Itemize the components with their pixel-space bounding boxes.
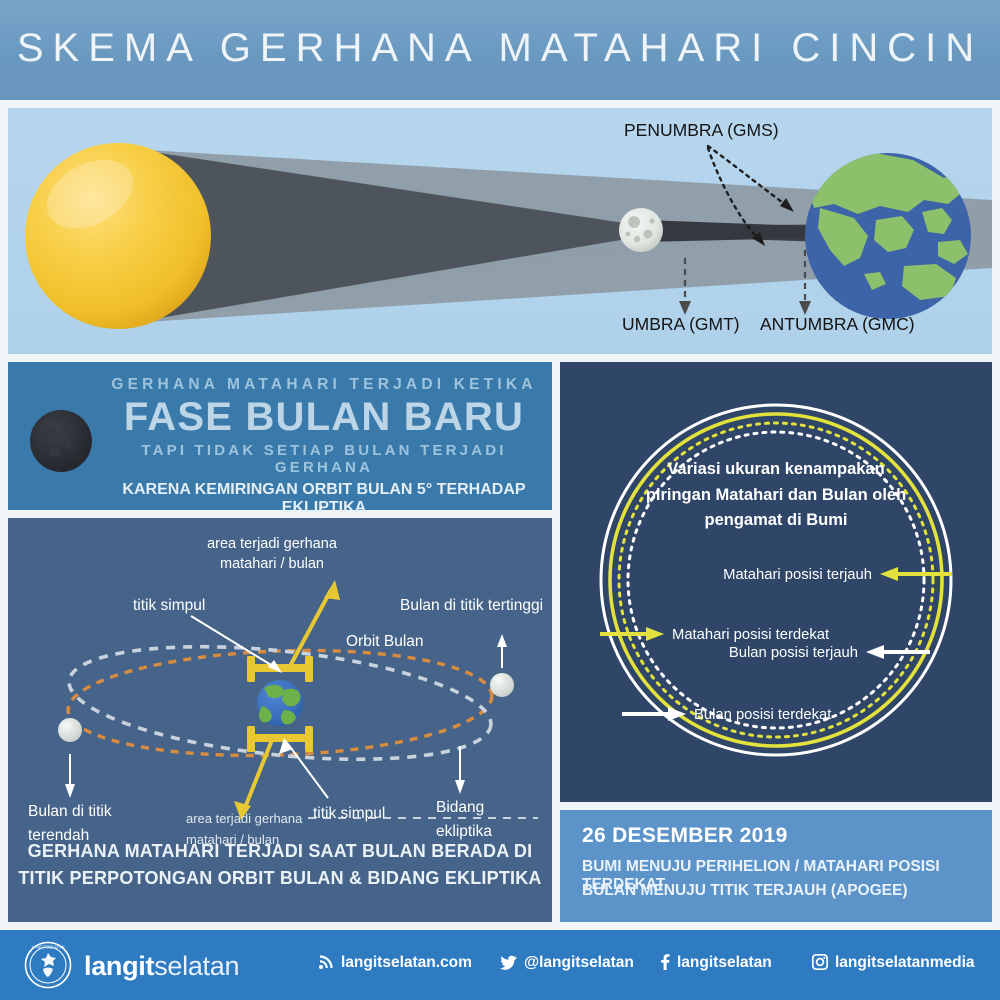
social-facebook[interactable]: langitselatan: [660, 954, 772, 975]
brand-wordmark: langitselatan: [84, 951, 239, 982]
moon-object: [619, 208, 663, 252]
moon-highest-label: Bulan di titik tertinggi: [400, 597, 543, 614]
event-date: 26 DESEMBER 2019: [582, 824, 788, 848]
rings-title: Variasi ukuran kenampakan piringan Matah…: [620, 457, 932, 534]
label-sun-nearest: Matahari posisi terdekat: [672, 627, 829, 643]
label-sun-farthest: Matahari posisi terjauh: [723, 567, 872, 583]
fase-line-4: KARENA KEMIRINGAN ORBIT BULAN 5° TERHADA…: [104, 481, 544, 517]
moon-orbit-label: Orbit Bulan: [346, 633, 424, 650]
umbra-label: UMBRA (GMT): [622, 314, 740, 334]
event-date-panel: 26 DESEMBER 2019 BUMI MENUJU PERIHELION …: [560, 810, 992, 922]
moon-orbit-nodes-panel: area terjadi gerhana matahari / bulan ti…: [8, 518, 552, 922]
fase-line-2: FASE BULAN BARU: [104, 396, 544, 438]
moon-lowest-label-1: Bulan di titik: [28, 803, 112, 820]
orbit-caption-line-2: TITIK PERPOTONGAN ORBIT BULAN & BIDANG E…: [8, 865, 552, 892]
fase-line-1: GERHANA MATAHARI TERJADI KETIKA: [104, 376, 544, 394]
brand-light: selatan: [154, 951, 239, 981]
node-bottom-label: titik simpul: [313, 805, 385, 822]
page-title: SKEMA GERHANA MATAHARI CINCIN: [0, 26, 1000, 71]
brand-bold: langit: [84, 951, 154, 981]
eclipse-area-top-label-1: area terjadi gerhana: [207, 536, 338, 552]
event-note-2: BULAN MENUJU TITIK TERJAUH (APOGEE): [582, 882, 908, 900]
antumbra-label: ANTUMBRA (GMC): [760, 314, 915, 334]
new-moon-phase-panel: GERHANA MATAHARI TERJADI KETIKA FASE BUL…: [8, 362, 552, 510]
sun-object: [25, 143, 211, 329]
moon-highest-icon: [490, 673, 514, 697]
penumbra-label: PENUMBRA (GMS): [624, 120, 779, 140]
orbit-caption-line-1: GERHANA MATAHARI TERJADI SAAT BULAN BERA…: [8, 838, 552, 865]
langitselatan-seal-logo: LANGITSELATAN: [24, 941, 72, 989]
social-twitter-label: @langitselatan: [524, 954, 634, 971]
rings-title-line-2: piringan Matahari dan Bulan oleh: [620, 483, 932, 509]
apparent-size-panel: Matahari posisi terjauh Matahari posisi …: [560, 362, 992, 802]
social-facebook-label: langitselatan: [677, 954, 772, 971]
orbit-caption: GERHANA MATAHARI TERJADI SAAT BULAN BERA…: [8, 838, 552, 892]
eclipse-area-bottom-label-1: area terjadi gerhana: [186, 811, 303, 826]
node-top-label: titik simpul: [133, 597, 205, 614]
earth-small-icon: [257, 680, 303, 726]
eclipse-area-top-label-2: matahari / bulan: [220, 556, 324, 572]
node-marker-top: [247, 656, 313, 682]
fase-text-block: GERHANA MATAHARI TERJADI KETIKA FASE BUL…: [104, 376, 544, 517]
social-instagram[interactable]: langitselatanmedia: [812, 954, 975, 975]
header-bar: SKEMA GERHANA MATAHARI CINCIN: [0, 0, 1000, 100]
rings-title-line-1: Variasi ukuran kenampakan: [620, 457, 932, 483]
social-website-label: langitselatan.com: [341, 954, 472, 971]
earth-object: [805, 152, 971, 319]
label-moon-farthest: Bulan posisi terjauh: [729, 645, 858, 661]
seal-top-text: LANGITSELATAN: [32, 945, 65, 950]
new-moon-icon: [30, 410, 92, 472]
facebook-icon: [660, 954, 670, 975]
fase-line-3: TAPI TIDAK SETIAP BULAN TERJADI GERHANA: [104, 442, 544, 476]
instagram-icon: [812, 954, 828, 975]
rings-title-line-3: pengamat di Bumi: [620, 508, 932, 534]
social-website[interactable]: langitselatan.com: [318, 954, 472, 975]
ecliptic-label-1: Bidang: [436, 799, 484, 816]
eclipse-geometry-diagram: PENUMBRA (GMS) UMBRA (GMT) ANTUMBRA (GMC…: [8, 108, 992, 354]
social-twitter[interactable]: @langitselatan: [500, 954, 634, 975]
infographic-page: SKEMA GERHANA MATAHARI CINCIN: [0, 0, 1000, 1000]
footer-bar: LANGITSELATAN langitselatan langitselata…: [0, 930, 1000, 1000]
label-moon-nearest: Bulan posisi terdekat: [694, 707, 831, 723]
twitter-icon: [500, 955, 517, 975]
node-marker-bottom: [247, 726, 313, 752]
rss-icon: [318, 954, 334, 975]
moon-lowest-icon: [58, 718, 82, 742]
social-instagram-label: langitselatanmedia: [835, 954, 975, 971]
